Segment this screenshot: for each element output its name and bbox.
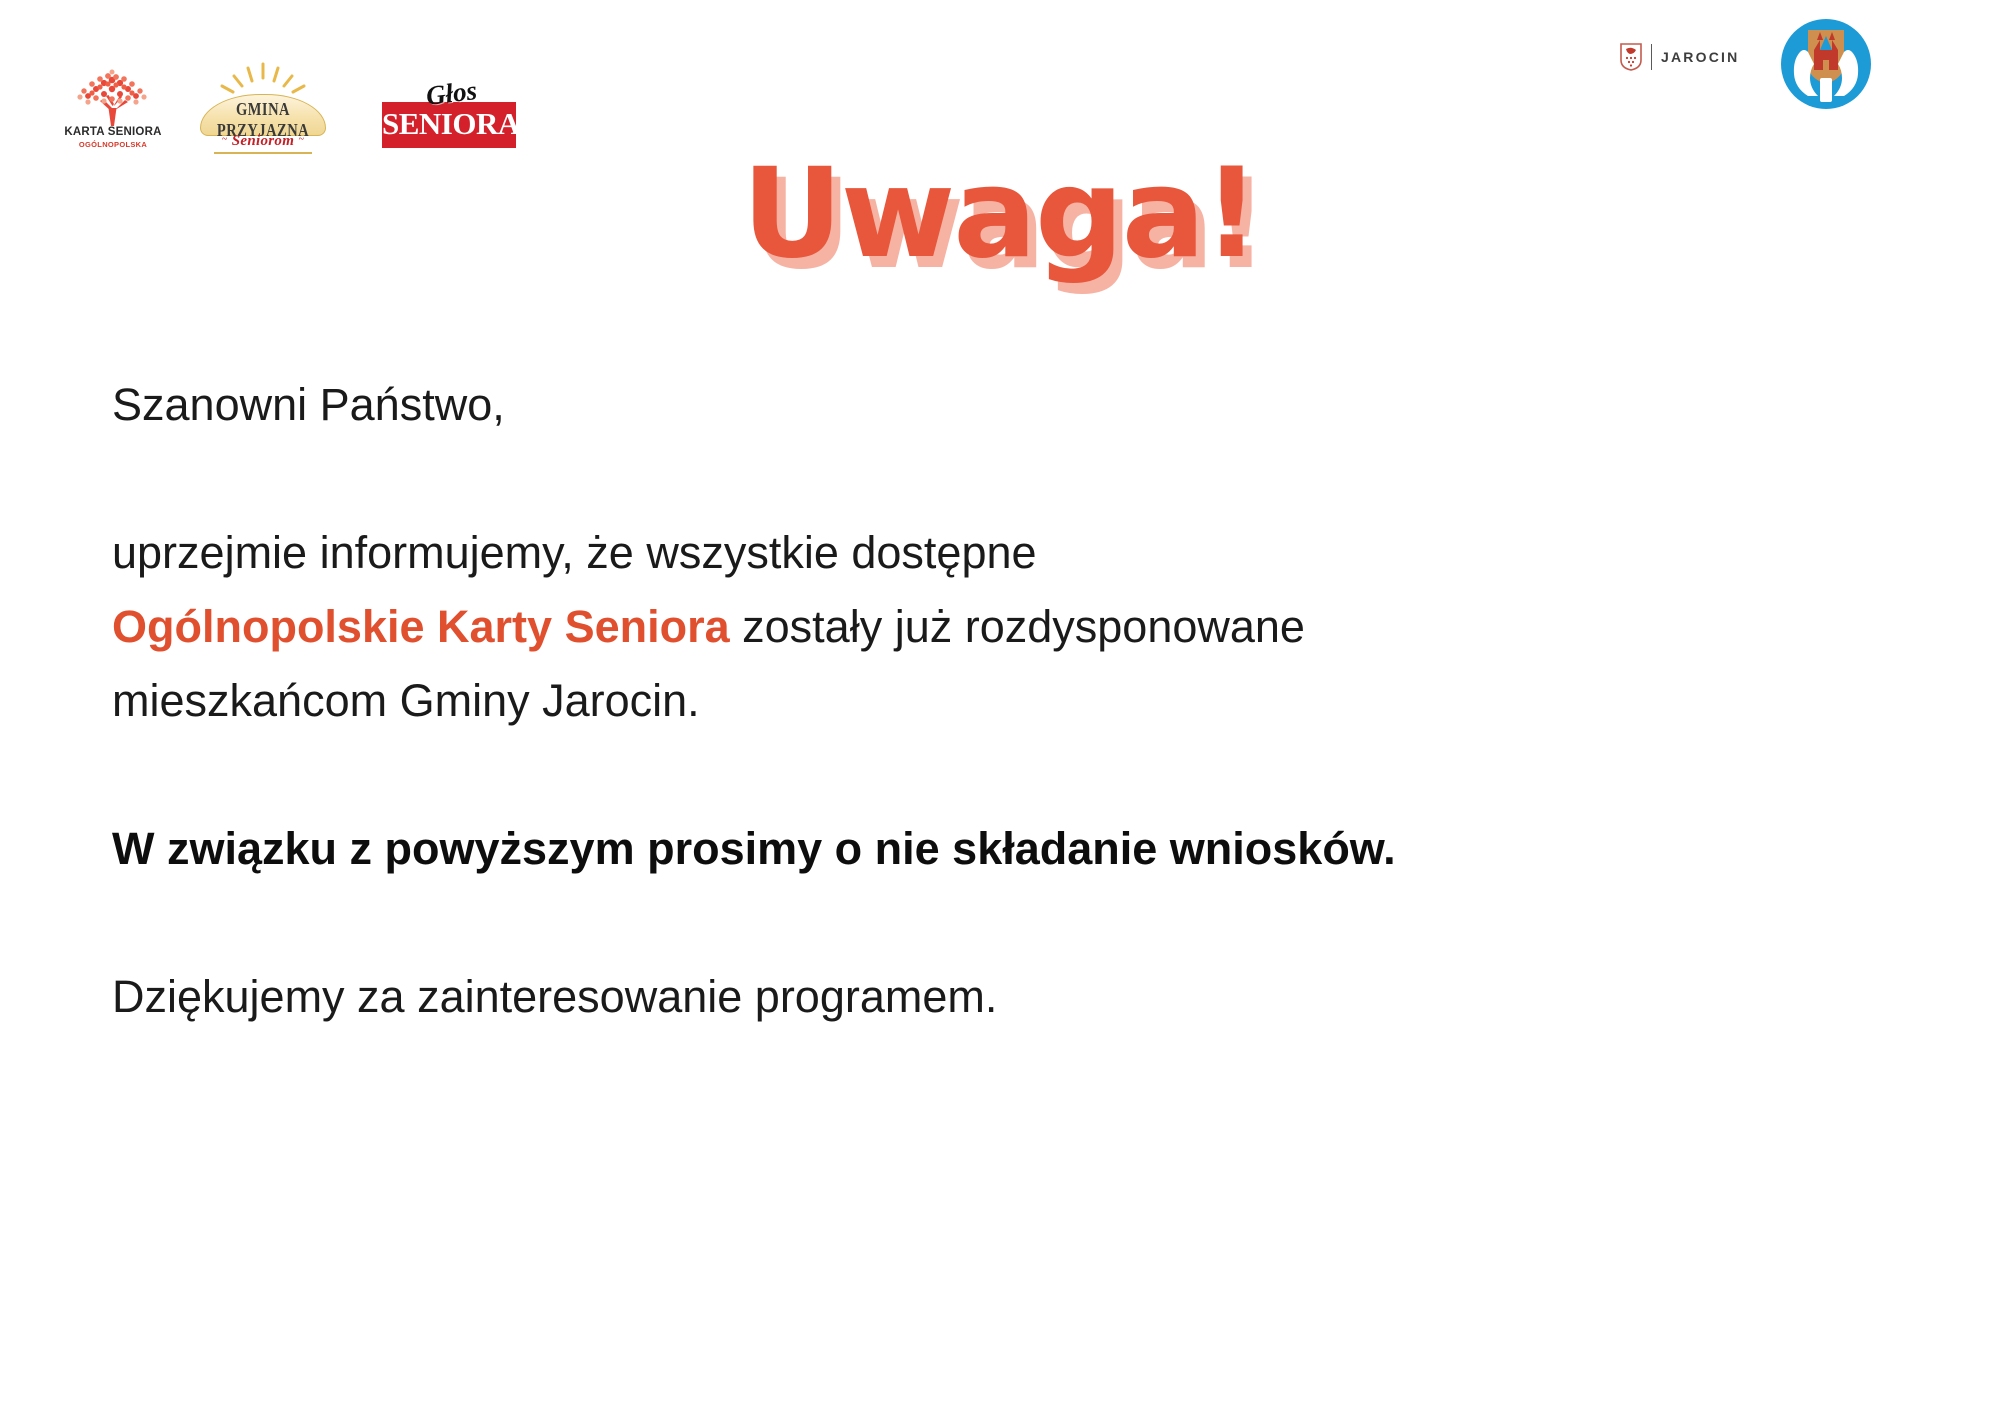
info-line-2: Ogólnopolskie Karty Seniora zostały już … [112,590,1912,664]
glos-main-word: SENIORA [382,104,516,144]
glos-script-word: Głos [424,75,478,112]
gmina-line2: Seniorom [232,133,294,149]
info-line-3: mieszkańcom Gminy Jarocin. [112,664,1912,738]
logo-gmina-przyjazna-seniorom: GMINA PRZYJAZNA ~ Seniorom ~ [198,62,328,152]
page-title: Uwaga! [0,152,2000,276]
bold-statement-line: W związku z powyższym prosimy o nie skła… [112,812,1912,886]
logo-jarocin: JAROCIN [1620,40,1739,74]
tree-icon [58,68,168,126]
closing-line: Dziękujemy za zainteresowanie programem. [112,960,1912,1034]
gmina-line2-wrap: ~ Seniorom ~ [198,132,328,150]
logo-karta-seniora: KARTA SENIORA OGÓLNOPOLSKA [58,68,168,150]
jarocin-crest-icon [1620,43,1642,71]
sun-rays-icon [198,62,328,98]
announcement-body: Szanowni Państwo, uprzejmie informujemy,… [112,368,1912,1034]
spacer-2 [112,738,1912,812]
spacer-1 [112,442,1912,516]
jarocin-divider [1651,44,1652,70]
swash-left-icon: ~ [222,134,227,145]
swash-right-icon: ~ [299,134,304,145]
hands-holding-crest-icon [1780,18,1872,110]
greeting-line: Szanowni Państwo, [112,368,1912,442]
karta-seniora-title: KARTA SENIORA [58,127,168,139]
karta-seniora-subtitle: OGÓLNOPOLSKA [58,141,168,149]
logo-hands-emblem [1780,18,1872,110]
logo-glos-seniora: SENIORA Głos [382,78,516,148]
jarocin-label: JAROCIN [1661,49,1739,65]
spacer-3 [112,886,1912,960]
highlight-karty-seniora: Ogólnopolskie Karty Seniora [112,601,730,652]
info-line-2-rest: zostały już rozdysponowane [730,601,1305,652]
info-line-1: uprzejmie informujemy, że wszystkie dost… [112,516,1912,590]
